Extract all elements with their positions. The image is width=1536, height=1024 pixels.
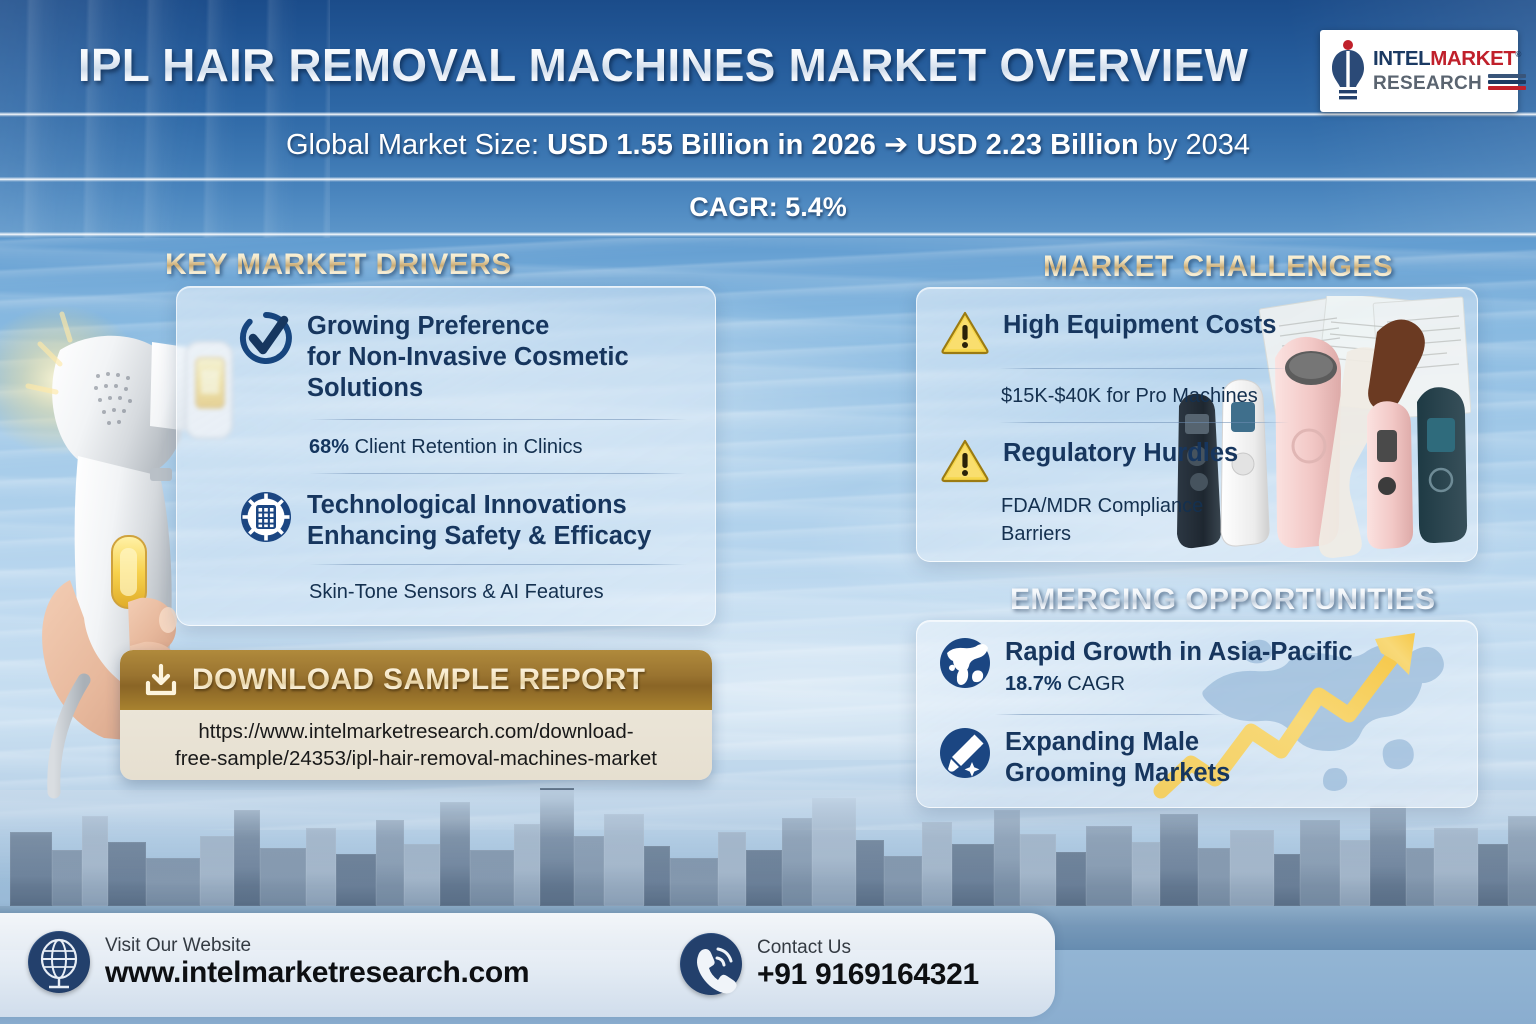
- section-heading-opportunities: EMERGING OPPORTUNITIES: [1010, 583, 1436, 617]
- logo-trademark: ®: [1516, 50, 1522, 59]
- check-circle-icon: [239, 311, 293, 365]
- driver-row-2: Technological Innovations Enhancing Safe…: [239, 490, 651, 552]
- challenge-2-detail-line1: FDA/MDR Compliance: [1001, 494, 1203, 519]
- section-heading-drivers: KEY MARKET DRIVERS: [165, 248, 512, 282]
- phone-icon: [680, 933, 742, 995]
- challenge-1-headline: High Equipment Costs: [1003, 310, 1276, 341]
- logo-bars-icon: [1488, 74, 1526, 92]
- market-size-to: USD 2.23 Billion: [916, 129, 1138, 161]
- infographic-root: IPL HAIR REMOVAL MACHINES MARKET OVERVIE…: [0, 0, 1536, 1024]
- driver-1-stat-value: 68%: [309, 436, 349, 458]
- logo-market: MARKET: [1430, 47, 1515, 70]
- download-icon: [144, 663, 178, 697]
- drivers-divider-3: [309, 564, 687, 565]
- warning-triangle-icon: [941, 438, 989, 482]
- page-title-light: MARKET OVERVIEW: [775, 39, 1248, 91]
- opportunity-1-stat-text: CAGR: [1062, 673, 1125, 695]
- footer-contact-value: +91 9169164321: [757, 958, 979, 992]
- download-url-line2: free-sample/24353/ipl-hair-removal-machi…: [175, 745, 657, 772]
- download-url-line1: https://www.intelmarketresearch.com/down…: [198, 718, 633, 745]
- driver-1-headline-line2: for Non-Invasive Cosmetic: [307, 342, 629, 373]
- driver-row-1: Growing Preference for Non-Invasive Cosm…: [239, 311, 629, 404]
- market-size-label: Global Market Size:: [286, 129, 547, 161]
- market-size-arrow-icon: ➔: [876, 129, 916, 161]
- driver-1-headline-line3: Solutions: [307, 373, 629, 404]
- drivers-divider-1: [309, 419, 687, 420]
- opportunity-1-headline: Rapid Growth in Asia-Pacific: [1005, 637, 1353, 668]
- driver-2-stat: Skin-Tone Sensors & AI Features: [309, 580, 604, 605]
- market-size-from: USD 1.55 Billion in 2026: [547, 129, 876, 161]
- logo-intel: INTEL: [1373, 47, 1430, 70]
- globe-icon: [28, 931, 90, 993]
- page-title-strong: IPL HAIR REMOVAL MACHINES: [78, 39, 776, 91]
- footer-contact-label: Contact Us: [757, 937, 979, 958]
- download-sample-report-button[interactable]: DOWNLOAD SAMPLE REPORT: [120, 650, 712, 710]
- logo-research: RESEARCH: [1373, 74, 1482, 93]
- challenge-2-headline: Regulatory Hurdles: [1003, 438, 1238, 469]
- header-divider-2: [0, 177, 1536, 182]
- footer-website[interactable]: Visit Our Website www.intelmarketresearc…: [28, 931, 529, 993]
- driver-2-headline-line1: Technological Innovations: [307, 490, 651, 521]
- market-size-subtitle: Global Market Size: USD 1.55 Billion in …: [0, 127, 1536, 162]
- page-title: IPL HAIR REMOVAL MACHINES MARKET OVERVIE…: [0, 38, 1536, 92]
- header-divider-1: [0, 112, 1536, 117]
- opportunity-row-1: Rapid Growth in Asia-Pacific 18.7% CAGR: [939, 637, 1353, 697]
- challenge-row-1: High Equipment Costs: [941, 310, 1276, 354]
- challenges-divider-2: [999, 422, 1289, 423]
- opportunity-1-stat: 18.7% CAGR: [1005, 672, 1353, 697]
- challenges-divider-1: [999, 368, 1289, 369]
- footer-website-value: www.intelmarketresearch.com: [105, 956, 529, 990]
- footer-bar: Visit Our Website www.intelmarketresearc…: [0, 913, 1055, 1017]
- opportunity-2-headline-line2: Grooming Markets: [1005, 758, 1230, 789]
- challenge-2-detail-line2: Barriers: [1001, 522, 1071, 547]
- razor-sparkle-icon: [939, 727, 991, 779]
- challenges-card: High Equipment Costs $15K-$40K for Pro M…: [916, 287, 1478, 562]
- driver-1-headline-line1: Growing Preference: [307, 311, 629, 342]
- opportunity-2-headline-line1: Expanding Male: [1005, 727, 1230, 758]
- footer-website-label: Visit Our Website: [105, 935, 529, 956]
- gear-chip-icon: [239, 490, 293, 544]
- opportunity-1-stat-value: 18.7%: [1005, 673, 1062, 695]
- company-logo[interactable]: INTELMARKET® RESEARCH: [1320, 30, 1518, 112]
- footer-contact[interactable]: Contact Us +91 9169164321: [680, 933, 979, 995]
- driver-2-headline-line2: Enhancing Safety & Efficacy: [307, 521, 651, 552]
- download-url-text[interactable]: https://www.intelmarketresearch.com/down…: [120, 710, 712, 780]
- section-heading-challenges: MARKET CHALLENGES: [1043, 250, 1393, 284]
- header-divider-3: [0, 232, 1536, 237]
- driver-1-stat-text: Client Retention in Clinics: [349, 436, 582, 458]
- challenge-row-2: Regulatory Hurdles: [941, 438, 1238, 482]
- drivers-card: Growing Preference for Non-Invasive Cosm…: [176, 286, 716, 626]
- warning-triangle-icon: [941, 310, 989, 354]
- download-sample-panel: DOWNLOAD SAMPLE REPORT https://www.intel…: [120, 650, 712, 780]
- globe-icon: [939, 637, 991, 689]
- driver-1-stat: 68% Client Retention in Clinics: [309, 435, 582, 460]
- opportunities-divider-1: [995, 714, 1225, 715]
- challenge-1-detail: $15K-$40K for Pro Machines: [1001, 384, 1258, 409]
- opportunities-card: Rapid Growth in Asia-Pacific 18.7% CAGR: [916, 620, 1478, 808]
- logo-bulb-icon: [1330, 39, 1366, 103]
- market-size-to-year: by 2034: [1139, 129, 1250, 161]
- download-button-label: DOWNLOAD SAMPLE REPORT: [192, 663, 645, 697]
- drivers-divider-2: [309, 473, 687, 474]
- cagr-value: CAGR: 5.4%: [0, 192, 1536, 223]
- opportunity-row-2: Expanding Male Grooming Markets: [939, 727, 1230, 789]
